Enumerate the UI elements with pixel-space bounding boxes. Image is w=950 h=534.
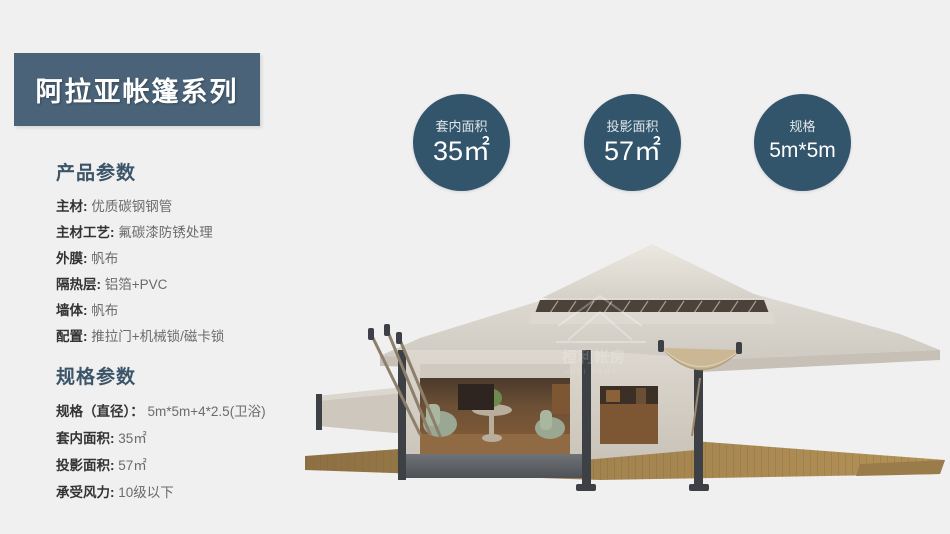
badge-projected-area: 投影面积 57㎡ [584, 94, 681, 191]
spec-value: 57㎡ [118, 458, 147, 473]
base-plinth [404, 454, 586, 478]
size-params-heading: 规格参数 [56, 362, 266, 389]
spec-label: 外膜: [56, 251, 88, 266]
product-params-section: 产品参数 主材: 优质碳钢钢管 主材工艺: 氟碳漆防锈处理 外膜: 帆布 隔热层… [56, 158, 224, 350]
spec-row: 配置: 推拉门+机械锁/磁卡锁 [56, 324, 224, 350]
spec-value: 帆布 [91, 303, 118, 318]
spec-row: 主材工艺: 氟碳漆防锈处理 [56, 220, 224, 246]
spec-value: 35㎡ [118, 431, 147, 446]
spec-value: 5m*5m+4*2.5(卫浴) [148, 404, 266, 419]
badge-label: 规格 [789, 119, 815, 134]
spec-row: 墙体: 帆布 [56, 298, 224, 324]
badge-value: 5m*5m [769, 136, 836, 166]
spec-label: 规格（直径）： [56, 404, 144, 419]
spec-label: 配置: [56, 329, 88, 344]
spec-value: 铝箔+PVC [105, 277, 168, 292]
badge-interior-area: 套内面积 35㎡ [413, 94, 510, 191]
spec-row: 隔热层: 铝箔+PVC [56, 272, 224, 298]
spec-value: 帆布 [91, 251, 118, 266]
watermark-text: 桓利帐房 [562, 348, 626, 366]
spec-label: 套内面积: [56, 431, 115, 446]
spec-label: 主材: [56, 199, 88, 214]
spec-row: 承受风力: 10级以下 [56, 479, 266, 506]
spec-value: 10级以下 [118, 485, 174, 500]
badge-label: 投影面积 [606, 119, 658, 134]
badge-value: 35㎡ [433, 136, 490, 166]
badge-value: 57㎡ [604, 136, 661, 166]
size-params-section: 规格参数 规格（直径）： 5m*5m+4*2.5(卫浴) 套内面积: 35㎡ 投… [56, 362, 266, 506]
spec-row: 规格（直径）： 5m*5m+4*2.5(卫浴) [56, 398, 266, 425]
spec-label: 投影面积: [56, 458, 115, 473]
spec-value: 优质碳钢钢管 [91, 199, 172, 214]
spec-row: 套内面积: 35㎡ [56, 425, 266, 452]
right-wall [584, 350, 696, 460]
spec-value: 推拉门+机械锁/磁卡锁 [91, 329, 224, 344]
upper-roof [528, 244, 776, 324]
title-banner: 阿拉亚帐篷系列 [14, 53, 260, 126]
badge-label: 套内面积 [435, 119, 487, 134]
spec-row: 主材: 优质碳钢钢管 [56, 194, 224, 220]
badge-dimensions: 规格 5m*5m [754, 94, 851, 191]
product-params-heading: 产品参数 [56, 158, 224, 185]
page-title: 阿拉亚帐篷系列 [36, 70, 239, 109]
spec-label: 承受风力: [56, 485, 115, 500]
spec-label: 墙体: [56, 303, 88, 318]
watermark-subtext: HELI TENT [564, 369, 618, 376]
spec-label: 主材工艺: [56, 225, 115, 240]
tent-interior [404, 350, 584, 468]
spec-row: 投影面积: 57㎡ [56, 452, 266, 479]
spec-value: 氟碳漆防锈处理 [118, 225, 213, 240]
page-root: 阿拉亚帐篷系列 产品参数 主材: 优质碳钢钢管 主材工艺: 氟碳漆防锈处理 外膜… [0, 0, 950, 534]
spec-row: 外膜: 帆布 [56, 246, 224, 272]
spec-label: 隔热层: [56, 277, 101, 292]
luxury-tent-render: 桓利帐房 HELI TENT [300, 238, 950, 500]
